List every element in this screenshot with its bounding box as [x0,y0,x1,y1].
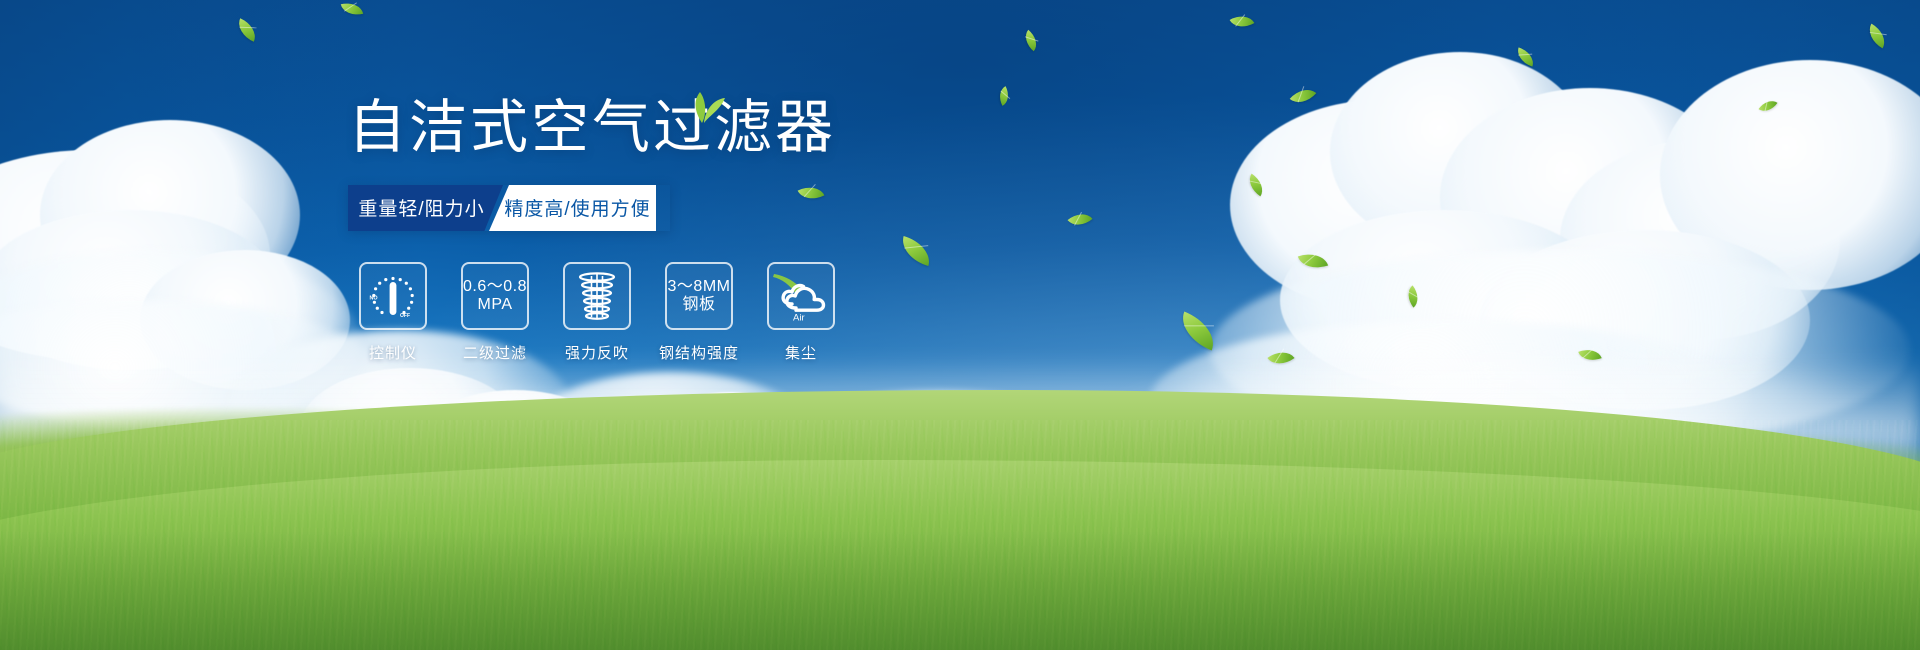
feature-icon-box: NO OFF [359,262,427,330]
feature-icon-row: NO OFF 控制仪 0.6～0.8 MPA 二级过滤 [357,262,1048,363]
pressure-gauge-icon: NO OFF [367,271,419,321]
banner-content: 自洁式空气过滤器 重量轻/阻力小 精度高/使用方便 [348,96,1048,363]
feature-item-steel[interactable]: 3～8MM 钢板 钢结构强度 [663,262,735,363]
svg-text:OFF: OFF [400,313,410,319]
grass-shadow [0,530,1920,650]
tag-weight-resistance[interactable]: 重量轻/阻力小 [348,185,503,231]
hero-banner: 自洁式空气过滤器 重量轻/阻力小 精度高/使用方便 [0,0,1920,650]
page-title: 自洁式空气过滤器 [348,96,1048,161]
svg-text:NO: NO [370,295,378,301]
feature-item-pressure[interactable]: 0.6～0.8 MPA 二级过滤 [459,262,531,363]
steel-material-line: 钢板 [668,296,731,314]
feature-icon-box [563,262,631,330]
svg-text:Air: Air [793,312,805,322]
feature-item-controller[interactable]: NO OFF 控制仪 [357,262,429,363]
filter-coil-icon [575,270,619,322]
pressure-value-text: 0.6～0.8 MPA [463,278,527,315]
pressure-unit-line: MPA [463,296,527,314]
feature-caption: 控制仪 [369,342,417,363]
steel-plate-text: 3～8MM 钢板 [668,278,731,315]
feature-tag-group: 重量轻/阻力小 精度高/使用方便 [348,185,670,231]
feature-caption: 二级过滤 [463,342,527,363]
air-cloud-icon: Air [772,270,830,322]
pressure-range-line: 0.6～0.8 [463,278,527,296]
feature-caption: 集尘 [785,342,817,363]
tag-precision-convenience[interactable]: 精度高/使用方便 [489,185,656,231]
feature-item-dust[interactable]: Air 集尘 [765,262,837,363]
feature-caption: 钢结构强度 [659,342,739,363]
feature-item-backblow[interactable]: 强力反吹 [561,262,633,363]
feature-icon-box: 3～8MM 钢板 [665,262,733,330]
feature-caption: 强力反吹 [565,342,629,363]
feature-icon-box: Air [767,262,835,330]
feature-icon-box: 0.6～0.8 MPA [461,262,529,330]
steel-thickness-line: 3～8MM [668,278,731,296]
